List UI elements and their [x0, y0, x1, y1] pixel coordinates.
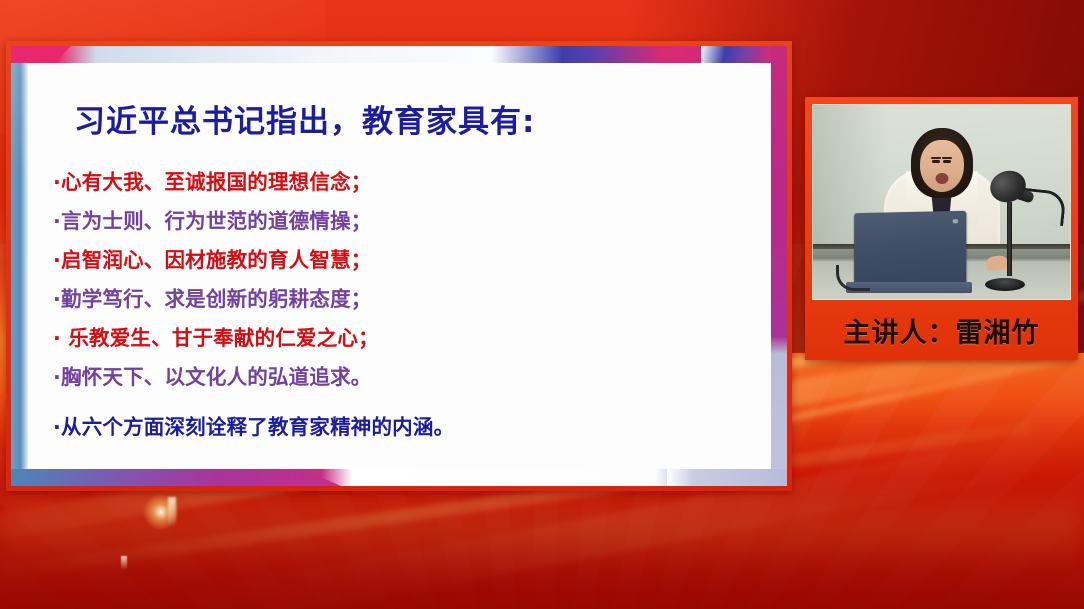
slide-border-top [11, 46, 787, 63]
list-item: ·勤学笃行、求是创新的躬耕态度； [53, 289, 757, 310]
list-item: ·启智润心、因材施教的育人智慧； [53, 250, 757, 271]
slide-border-bottom-left-wedge [11, 469, 341, 486]
list-item: · 乐教爱生、甘于奉献的仁爱之心； [53, 328, 757, 349]
presentation-slide-panel: 习近平总书记指出，教育家具有: ·心有大我、至诚报国的理想信念； ·言为士则、行… [6, 41, 792, 491]
microphone-stem [1007, 202, 1012, 276]
slide-title: 习近平总书记指出，教育家具有: [74, 105, 757, 139]
presenter-eyebrow-left [931, 157, 941, 159]
speaker-name-label: 主讲人：雷湘竹 [812, 300, 1071, 360]
slide-closing-line: ·从六个方面深刻诠释了教育家精神的内涵。 [53, 410, 757, 440]
laptop-icon [854, 210, 966, 290]
laptop-camera-icon [952, 219, 957, 223]
presenter-eye-left [932, 160, 940, 163]
slide-border-right [771, 46, 787, 486]
slide-content: 习近平总书记指出，教育家具有: ·心有大我、至诚报国的理想信念； ·言为士则、行… [41, 68, 757, 464]
presenter-mouth [935, 173, 948, 184]
presenter-face [920, 140, 964, 192]
slide-border-bottom-right-accent [667, 469, 787, 486]
video-feed[interactable] [812, 104, 1071, 300]
presenter-eyebrow-right [942, 157, 952, 159]
slide-border-top-right-accent [701, 46, 771, 63]
slide-bullet-list: ·心有大我、至诚报国的理想信念； ·言为士则、行为世范的道德情操； ·启智润心、… [53, 172, 757, 388]
slide-border-left [11, 46, 28, 486]
list-item: ·胸怀天下、以文化人的弘道追求。 [53, 367, 757, 388]
speaker-video-panel[interactable]: 主讲人：雷湘竹 [805, 97, 1078, 360]
presenter-eye-right [943, 160, 951, 163]
list-item: ·心有大我、至诚报国的理想信念； [53, 172, 757, 193]
list-item: ·言为士则、行为世范的道德情操； [53, 211, 757, 232]
slide-canvas: 习近平总书记指出，教育家具有: ·心有大我、至诚报国的理想信念； ·言为士则、行… [11, 46, 787, 486]
